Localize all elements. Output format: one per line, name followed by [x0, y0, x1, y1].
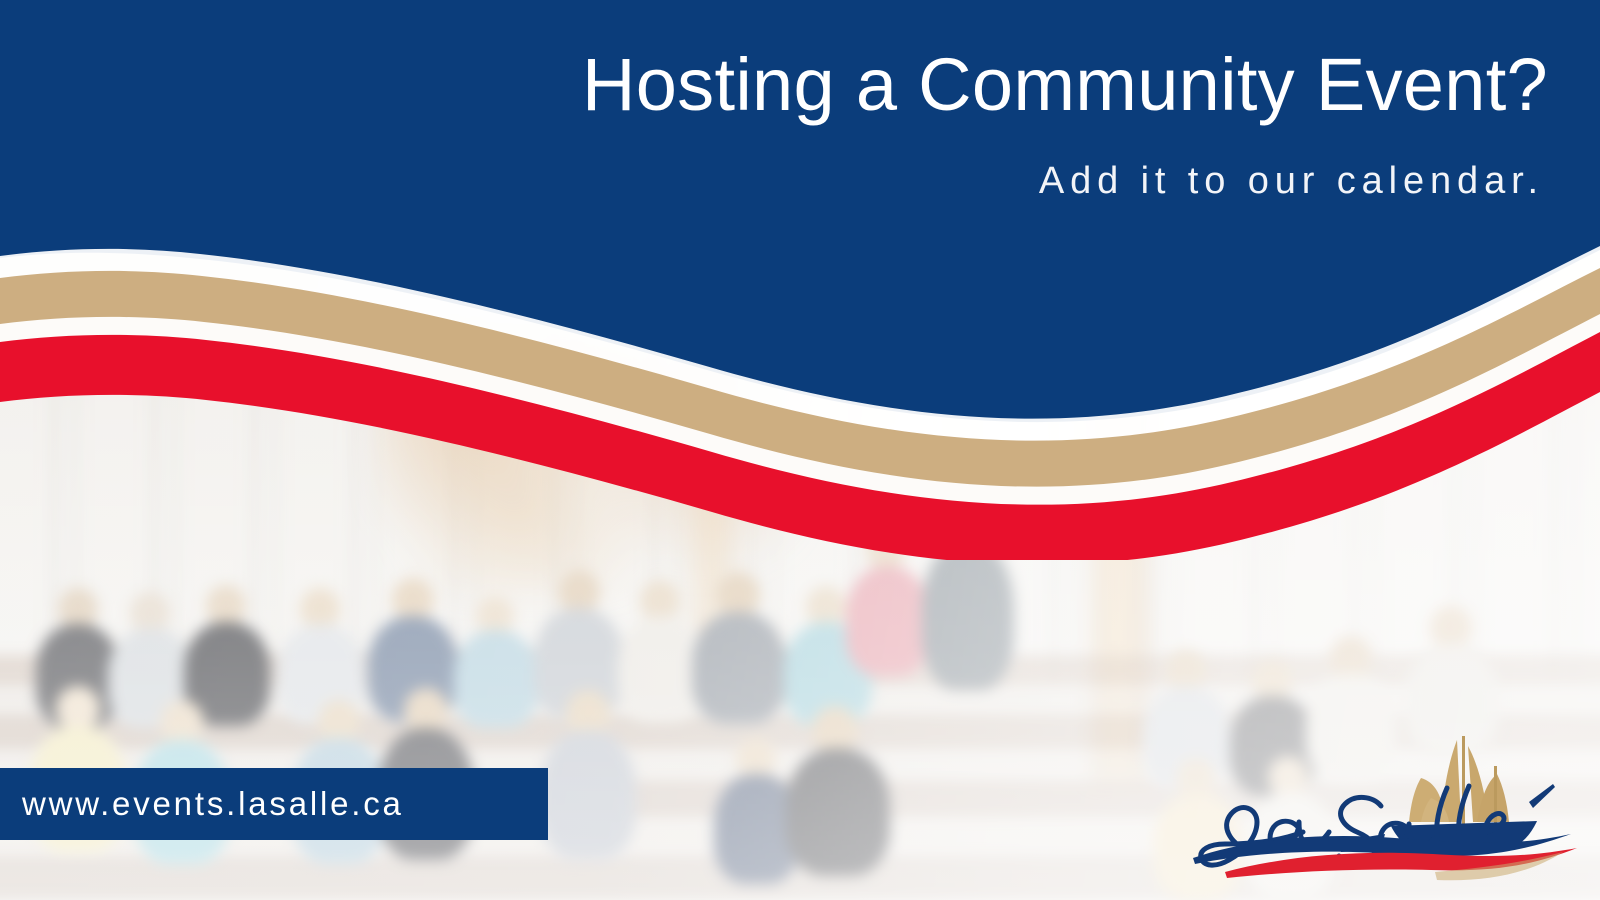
website-url-text[interactable]: www.events.lasalle.ca [0, 785, 404, 823]
subtitle: Add it to our calendar. [0, 162, 1544, 200]
lasalle-logo[interactable] [1185, 722, 1585, 894]
page-title: Hosting a Community Event? [0, 48, 1548, 122]
website-url-bar[interactable]: www.events.lasalle.ca [0, 768, 548, 840]
community-event-banner: Hosting a Community Event? Add it to our… [0, 0, 1600, 900]
